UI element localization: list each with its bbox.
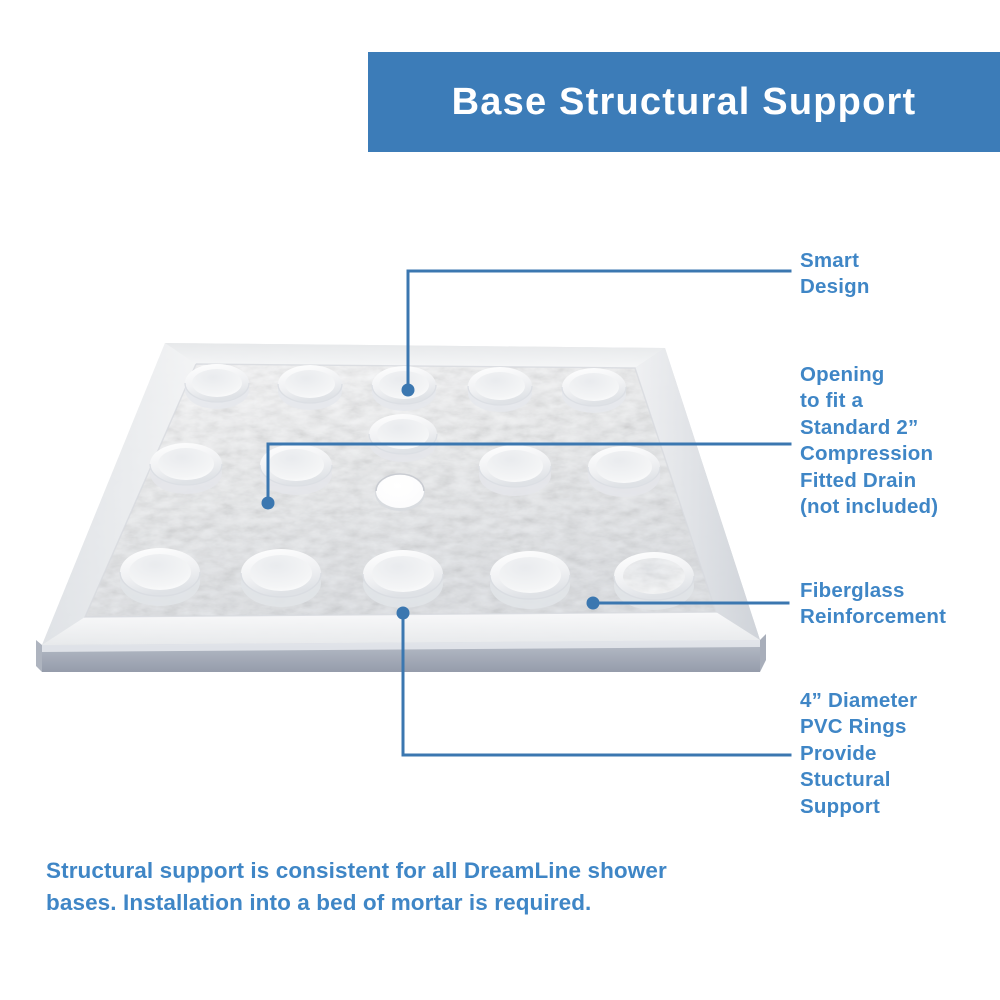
bottom-caption: Structural support is consistent for all… <box>46 855 686 919</box>
base-front-side <box>42 640 760 672</box>
rim-inner-wall-back <box>165 343 665 368</box>
pvc-ring <box>363 550 443 608</box>
pvc-ring <box>185 364 249 409</box>
pvc-ring-group <box>120 364 694 610</box>
rim-inner-wall-front <box>42 612 760 645</box>
leader-dot-drain-opening <box>262 497 275 510</box>
base-side-highlight <box>42 640 760 652</box>
callout-pvc-rings: 4” Diameter PVC Rings Provide Stuctural … <box>800 688 995 820</box>
pvc-ring <box>490 551 570 609</box>
pvc-ring <box>562 368 626 413</box>
pvc-ring <box>468 367 532 412</box>
callout-smart-design: Smart Design <box>800 248 995 301</box>
leader-dot-pvc-rings <box>397 607 410 620</box>
pvc-ring <box>278 365 342 410</box>
pvc-ring <box>372 366 436 411</box>
pvc-ring <box>260 444 332 495</box>
base-left-edge <box>36 640 42 672</box>
pvc-ring <box>150 443 222 494</box>
pvc-ring <box>479 445 551 496</box>
callout-fiberglass-reinforcement: Fiberglass Reinforcement <box>800 578 995 631</box>
leader-lines <box>262 271 791 755</box>
pvc-ring <box>614 552 694 610</box>
pvc-ring <box>588 446 660 497</box>
leader-line-smart-design <box>402 271 791 397</box>
page-title: Base Structural Support <box>452 81 917 124</box>
drain-opening <box>375 474 425 511</box>
rim-inner-wall-left <box>42 343 196 645</box>
callout-drain-opening: Opening to fit a Standard 2” Compression… <box>800 362 1000 521</box>
deck-edge-outline <box>85 364 716 617</box>
pvc-ring <box>120 548 200 606</box>
page-title-banner: Base Structural Support <box>368 52 1000 152</box>
base-deck-surface <box>85 364 716 617</box>
leader-dot-smart-design <box>402 384 415 397</box>
base-right-edge <box>760 634 766 672</box>
leader-dot-fiberglass <box>587 597 600 610</box>
leader-line-pvc-rings <box>397 607 791 756</box>
pvc-ring <box>369 414 437 462</box>
leader-line-drain-opening <box>262 444 791 510</box>
base-rim-top <box>42 343 760 645</box>
shower-base-body <box>36 343 766 672</box>
rim-inner-wall-right <box>635 348 760 640</box>
leader-line-fiberglass <box>587 597 789 610</box>
pvc-ring <box>241 549 321 607</box>
